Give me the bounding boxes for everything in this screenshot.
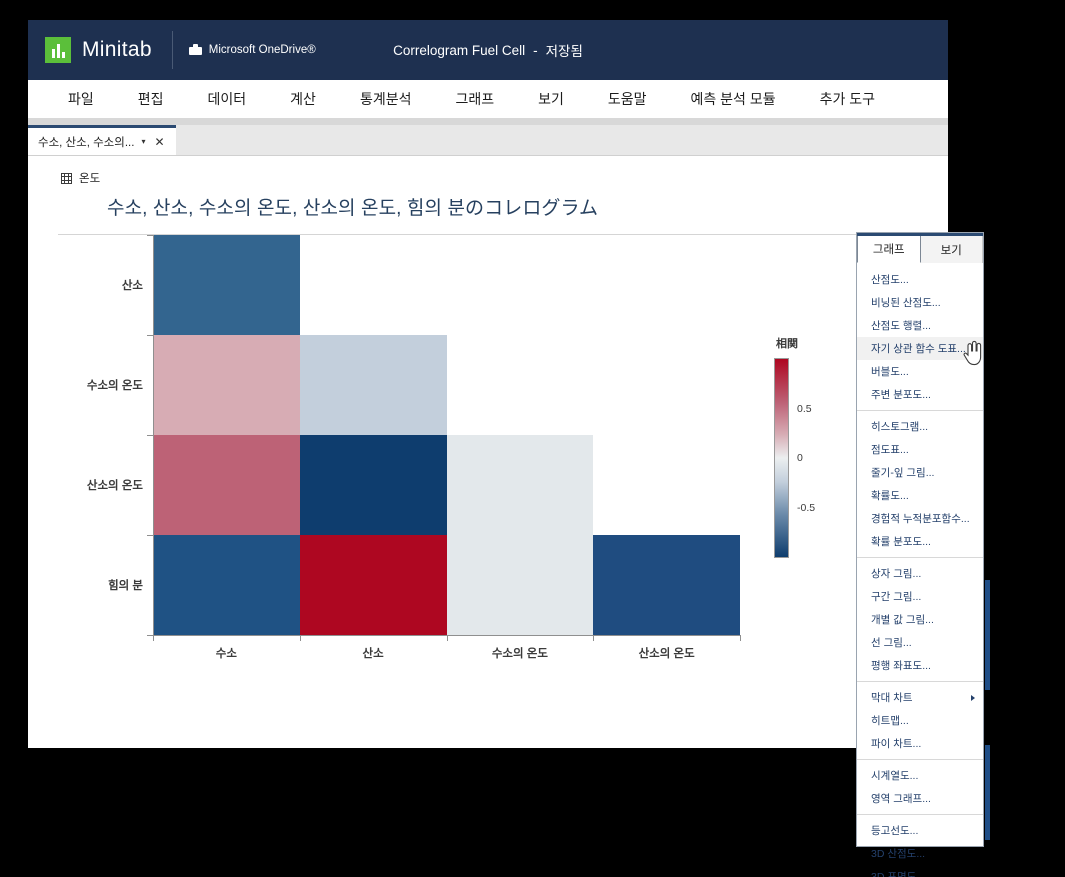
menu-item-label: 3D 표면도... [871, 871, 925, 877]
legend-title: 相関 [776, 335, 798, 351]
menu-item-label: 히트맵... [871, 715, 909, 727]
x-axis-tick [740, 635, 741, 641]
y-axis-tick [147, 435, 153, 436]
menu-item-label: 버블도... [871, 366, 909, 378]
menu-item-label: 점도표... [871, 444, 909, 456]
x-axis-tick [593, 635, 594, 641]
menu-item-label: 줄기-잎 그림... [871, 467, 934, 479]
graph-dropdown-menu: 그래프 보기 산점도...비닝된 산점도...산점도 행렬...자기 상관 함수… [856, 232, 984, 847]
heatmap-cell[interactable] [153, 435, 300, 535]
y-axis-tick [147, 335, 153, 336]
menu-item-label: 개별 값 그림... [871, 614, 934, 626]
menu-item-label: 자기 상관 함수 도표... [871, 343, 966, 355]
worksheet-grid-icon [61, 173, 72, 184]
color-legend: 相関 0.5 0 -0.5 [774, 335, 798, 558]
heatmap-plot[interactable] [153, 235, 740, 635]
correlogram-chart: 산소수소의 온도산소의 온도힘의 분수소산소수소의 온도산소의 온도 相関 0.… [28, 235, 948, 705]
menu-help[interactable]: 도움말 [586, 83, 669, 115]
menu-item[interactable]: 등고선도... [857, 819, 983, 842]
menu-item[interactable]: 3D 산점도... [857, 842, 983, 865]
menu-item[interactable]: 확률 분포도... [857, 530, 983, 553]
heatmap-cell[interactable] [300, 535, 447, 635]
screen-root: Minitab Microsoft OneDrive® Correlogram … [0, 0, 1065, 877]
menu-predictive-analytics[interactable]: 예측 분석 모듈 [669, 83, 798, 115]
menu-item-label: 주변 분포도... [871, 389, 931, 401]
heatmap-cell[interactable] [153, 335, 300, 435]
menu-item[interactable]: 영역 그래프... [857, 787, 983, 810]
menu-item-label: 시계열도... [871, 770, 918, 782]
menu-graph[interactable]: 그래프 [433, 83, 516, 115]
y-axis-label: 수소의 온도 [33, 377, 143, 393]
legend-tick-low: -0.5 [797, 502, 815, 514]
onedrive-label: Microsoft OneDrive® [209, 44, 316, 56]
heatmap-cell[interactable] [300, 435, 447, 535]
y-axis-label: 산소 [33, 277, 143, 293]
menu-item-label: 파이 차트... [871, 738, 921, 750]
menu-item[interactable]: 산점도 행렬... [857, 314, 983, 337]
menu-bar: 파일 편집 데이터 계산 통계분석 그래프 보기 도움말 예측 분석 모듈 추가… [28, 80, 948, 118]
document-title-group: Correlogram Fuel Cell - 저장됨 [28, 20, 948, 80]
heatmap-cell[interactable] [447, 435, 594, 535]
tab-label: 수소, 산소, 수소의... [38, 134, 134, 150]
menu-item[interactable]: 점도표... [857, 438, 983, 461]
menu-item-label: 히스토그램... [871, 421, 928, 433]
brand: Minitab [28, 37, 152, 63]
menu-item-label: 선 그림... [871, 637, 912, 649]
menu-data[interactable]: 데이터 [186, 83, 269, 115]
document-title: Correlogram Fuel Cell [393, 43, 525, 58]
title-bar: Minitab Microsoft OneDrive® Correlogram … [28, 20, 948, 80]
menu-item-label: 상자 그림... [871, 568, 921, 580]
menu-item[interactable]: 히스토그램... [857, 415, 983, 438]
submenu-arrow-icon [971, 695, 975, 701]
menu-file[interactable]: 파일 [46, 83, 116, 115]
x-axis-label: 수소의 온도 [445, 645, 595, 661]
menu-additional-tools[interactable]: 추가 도구 [798, 83, 897, 115]
menu-item-label: 3D 산점도... [871, 848, 925, 860]
menu-item[interactable]: 확률도... [857, 484, 983, 507]
menu-item-label: 산점도... [871, 274, 909, 286]
x-axis-label: 산소 [298, 645, 448, 661]
menu-item[interactable]: 구간 그림... [857, 585, 983, 608]
menu-item[interactable]: 파이 차트... [857, 732, 983, 755]
menu-panel-tab-graph[interactable]: 그래프 [857, 236, 921, 263]
x-axis-label: 수소 [151, 645, 301, 661]
menu-item[interactable]: 개별 값 그림... [857, 608, 983, 631]
y-axis-tick [147, 535, 153, 536]
menu-item[interactable]: 시계열도... [857, 764, 983, 787]
onedrive-indicator[interactable]: Microsoft OneDrive® [189, 44, 316, 57]
graph-content: 온도 수소, 산소, 수소의 온도, 산소의 온도, 힘의 분のコレログラム 산… [28, 156, 948, 748]
menu-item[interactable]: 3D 표면도... [857, 865, 983, 877]
tab-strip: 수소, 산소, 수소의... ▾ ✕ [28, 125, 948, 156]
menu-separator [857, 814, 983, 815]
close-icon[interactable]: ✕ [152, 135, 166, 149]
y-axis-line [153, 235, 154, 635]
document-title-separator: - [533, 43, 538, 58]
menu-item[interactable]: 줄기-잎 그림... [857, 461, 983, 484]
menu-stat[interactable]: 통계분석 [338, 83, 434, 115]
menu-item-label: 경험적 누적분포함수... [871, 513, 970, 525]
menu-view[interactable]: 보기 [516, 83, 586, 115]
x-axis-tick [447, 635, 448, 641]
heatmap-cell[interactable] [153, 235, 300, 335]
x-axis-tick [300, 635, 301, 641]
menu-item[interactable]: 산점도... [857, 268, 983, 291]
sheet-header: 온도 수소, 산소, 수소의 온도, 산소의 온도, 힘의 분のコレログラム [28, 156, 948, 220]
menu-item[interactable]: 히트맵... [857, 709, 983, 732]
menu-separator [857, 759, 983, 760]
scrollbar-thumb-upper[interactable] [985, 580, 990, 690]
menu-item[interactable]: 비닝된 산점도... [857, 291, 983, 314]
page-title: 수소, 산소, 수소의 온도, 산소의 온도, 힘의 분のコレログラム [107, 193, 948, 220]
menu-item-label: 등고선도... [871, 825, 918, 837]
menu-item-label: 확률 분포도... [871, 536, 931, 548]
y-axis-label: 산소의 온도 [33, 477, 143, 493]
hand-cursor-icon [962, 340, 984, 366]
menu-separator [857, 557, 983, 558]
heatmap-cell[interactable] [593, 535, 740, 635]
tab-correlogram[interactable]: 수소, 산소, 수소의... ▾ ✕ [28, 125, 176, 155]
menu-item-label: 확률도... [871, 490, 909, 502]
titlebar-divider [172, 31, 173, 69]
y-axis-tick [147, 235, 153, 236]
menu-item[interactable]: 막대 차트 [857, 686, 983, 709]
menu-panel-tabs: 그래프 보기 [857, 233, 983, 263]
x-axis-label: 산소의 온도 [592, 645, 742, 661]
heatmap-cell[interactable] [447, 535, 594, 635]
menu-item-label: 영역 그래프... [871, 793, 931, 805]
menu-separator [857, 410, 983, 411]
menu-item-label: 막대 차트 [871, 692, 913, 704]
worksheet-indicator: 온도 [61, 170, 948, 186]
legend-tick-high: 0.5 [797, 403, 812, 415]
y-axis-label: 힘의 분 [33, 577, 143, 593]
legend-colorbar: 0.5 0 -0.5 [774, 358, 789, 558]
briefcase-icon [189, 44, 202, 57]
menu-calc[interactable]: 계산 [268, 83, 338, 115]
menu-item[interactable]: 상자 그림... [857, 562, 983, 585]
menu-item-label: 평행 좌표도... [871, 660, 931, 672]
minitab-logo-icon [45, 37, 71, 63]
menu-item[interactable]: 주변 분포도... [857, 383, 983, 406]
scrollbar-thumb-lower[interactable] [985, 745, 990, 840]
menu-edit[interactable]: 편집 [116, 83, 186, 115]
menubar-shadow [28, 118, 948, 125]
minitab-window: Minitab Microsoft OneDrive® Correlogram … [28, 20, 948, 748]
menu-item[interactable]: 평행 좌표도... [857, 654, 983, 677]
legend-tick-mid: 0 [797, 452, 803, 464]
document-save-state: 저장됨 [546, 40, 583, 60]
menu-item[interactable]: 선 그림... [857, 631, 983, 654]
menu-item-label: 산점도 행렬... [871, 320, 931, 332]
menu-separator [857, 681, 983, 682]
menu-item-label: 구간 그림... [871, 591, 921, 603]
heatmap-cell[interactable] [300, 335, 447, 435]
menu-item[interactable]: 경험적 누적분포함수... [857, 507, 983, 530]
brand-name: Minitab [82, 38, 152, 62]
heatmap-cell[interactable] [153, 535, 300, 635]
chevron-down-icon[interactable]: ▾ [141, 137, 145, 146]
x-axis-tick [153, 635, 154, 641]
worksheet-name: 온도 [79, 170, 100, 186]
menu-panel-tab-view[interactable]: 보기 [921, 236, 984, 263]
menu-item-label: 비닝된 산점도... [871, 297, 941, 309]
